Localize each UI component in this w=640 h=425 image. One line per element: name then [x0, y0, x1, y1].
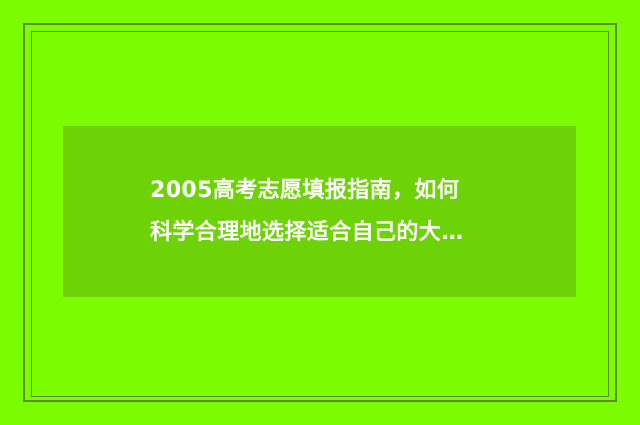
poster-card: 2005高考志愿填报指南，如何 科学合理地选择适合自己的大…	[0, 0, 640, 425]
caption-line-2: 科学合理地选择适合自己的大…	[150, 212, 552, 254]
caption-panel: 2005高考志愿填报指南，如何 科学合理地选择适合自己的大…	[63, 126, 576, 297]
caption-line-1: 2005高考志愿填报指南，如何	[150, 170, 552, 212]
